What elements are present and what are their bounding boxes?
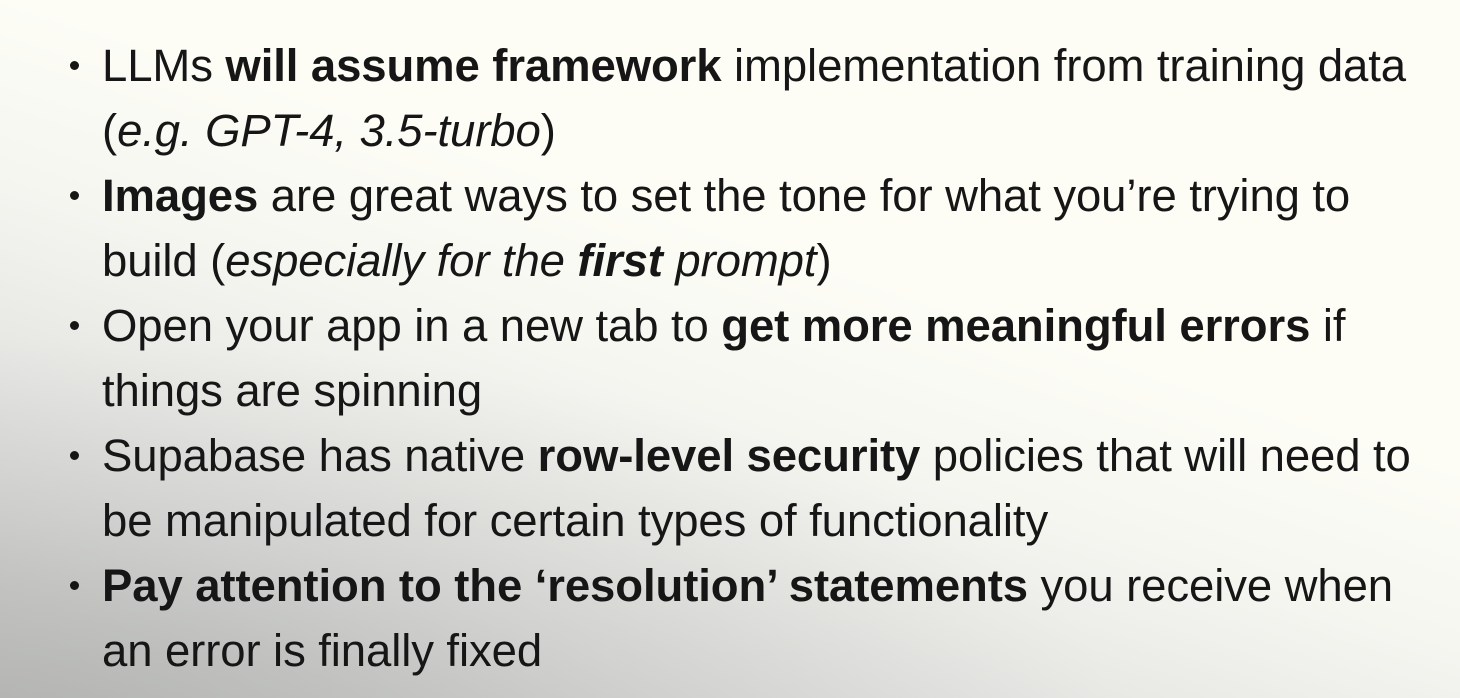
list-item: Supabase has native row-level security p… — [66, 423, 1446, 553]
bullet-point-icon — [70, 61, 79, 70]
list-item-text: Supabase has native row-level security p… — [102, 423, 1446, 553]
list-item: LLMs will assume framework implementatio… — [66, 33, 1446, 163]
list-item: Open your app in a new tab to get more m… — [66, 293, 1446, 423]
bullet-point-icon — [70, 321, 79, 330]
bullet-point-icon — [70, 581, 79, 590]
list-item-text: Images are great ways to set the tone fo… — [102, 163, 1446, 293]
list-item-text: Pay attention to the ‘resolution’ statem… — [102, 553, 1446, 683]
bullet-list: LLMs will assume framework implementatio… — [0, 0, 1460, 683]
slide-canvas: LLMs will assume framework implementatio… — [0, 0, 1460, 698]
list-item: Images are great ways to set the tone fo… — [66, 163, 1446, 293]
bullet-point-icon — [70, 191, 79, 200]
list-item-text: LLMs will assume framework implementatio… — [102, 33, 1446, 163]
list-item: Pay attention to the ‘resolution’ statem… — [66, 553, 1446, 683]
bullet-point-icon — [70, 451, 79, 460]
list-item-text: Open your app in a new tab to get more m… — [102, 293, 1446, 423]
